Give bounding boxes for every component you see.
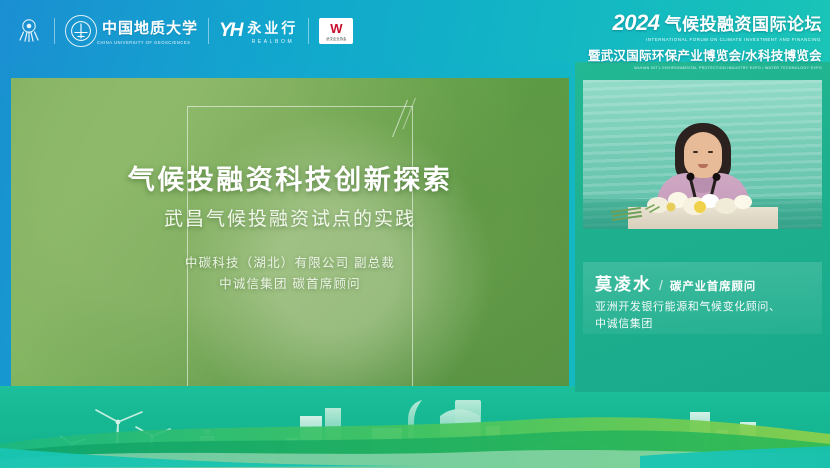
partner-box-icon: W 武汉企业协会 [319, 18, 353, 44]
cug-logo: 中国地质大学 CHINA UNIVERSITY OF GEOSCIENCES [65, 13, 198, 49]
speaker-eye-left [693, 151, 698, 153]
slide-affiliation-line-2: 中诚信集团 碳首席顾问 [11, 274, 569, 295]
partner-glyph: W [330, 22, 342, 35]
city-skyline-illustration [0, 386, 830, 468]
cug-seal-icon [65, 15, 97, 47]
cug-name-en: CHINA UNIVERSITY OF GEOSCIENCES [97, 40, 198, 45]
broadcast-stage: 中国地质大学 CHINA UNIVERSITY OF GEOSCIENCES Y… [0, 0, 830, 468]
speaker-role: 碳产业首席顾问 [670, 278, 756, 294]
speaker-mouth [698, 164, 708, 168]
bottom-skyline-band [0, 386, 830, 468]
speaker-name-card: 莫凌水 / 碳产业首席顾问 亚洲开发银行能源和气候变化顾问、 中诚信集团 [583, 262, 822, 334]
logo-divider [208, 18, 209, 44]
speaker-name: 莫凌水 [595, 270, 652, 295]
presentation-slide[interactable]: 气候投融资科技创新探索 武昌气候投融资试点的实践 中碳科技（湖北）有限公司 副总… [11, 78, 569, 390]
slide-subtitle: 武昌气候投融资试点的实践 [11, 204, 569, 231]
speaker-divider: / [659, 277, 663, 293]
event-title-main-row: 2024 气候投融资国际论坛 [588, 10, 822, 36]
sponsor-logo-row: 中国地质大学 CHINA UNIVERSITY OF GEOSCIENCES Y… [14, 13, 353, 49]
podium-flowers [638, 185, 768, 215]
speaker-eye-right [708, 151, 713, 153]
slide-affiliation-line-1: 中碳科技（湖北）有限公司 副总裁 [11, 253, 569, 274]
logo-divider [308, 18, 309, 44]
forum-emblem-logo [14, 13, 44, 49]
speaker-organization-line-2: 中诚信集团 [595, 316, 822, 333]
slide-affiliation: 中碳科技（湖北）有限公司 副总裁 中诚信集团 碳首席顾问 [11, 253, 569, 295]
speaker-title-row: 莫凌水 / 碳产业首席顾问 [595, 270, 822, 295]
speaker-organization: 亚洲开发银行能源和气候变化顾问、 中诚信集团 [595, 299, 822, 333]
event-title-en: INTERNATIONAL FORUM ON CLIMATE INVESTMEN… [588, 37, 822, 42]
event-subtitle-cn: 暨武汉国际环保产业博览会/水科技博览会 [588, 45, 822, 64]
speaker-live-video[interactable] [583, 80, 822, 229]
logo-divider [54, 18, 55, 44]
event-subtitle-en: WUHAN INT'L ENVIRONMENTAL PROTECTION IND… [588, 66, 822, 70]
realbom-logo: YH 永业行 REALBOM [219, 13, 298, 49]
slide-title: 气候投融资科技创新探索 [11, 158, 569, 197]
partner-caption: 武汉企业协会 [326, 36, 346, 41]
realbom-name-cn: 永业行 [247, 18, 298, 38]
event-title-cn: 气候投融资国际论坛 [665, 10, 823, 35]
realbom-name-en: REALBOM [247, 39, 298, 45]
forum-emblem-icon [14, 16, 44, 46]
realbom-monogram-icon: YH [219, 20, 241, 42]
speaker-organization-line-1: 亚洲开发银行能源和气候变化顾问、 [595, 299, 822, 316]
event-title-block: 2024 气候投融资国际论坛 INTERNATIONAL FORUM ON CL… [588, 10, 822, 70]
partner-box-logo: W 武汉企业协会 [319, 13, 353, 49]
slide-decor-frame [187, 106, 413, 390]
event-year: 2024 [613, 10, 660, 36]
speaker-face [684, 132, 722, 178]
cug-name-cn: 中国地质大学 [102, 17, 198, 38]
header-bar: 中国地质大学 CHINA UNIVERSITY OF GEOSCIENCES Y… [0, 0, 830, 62]
